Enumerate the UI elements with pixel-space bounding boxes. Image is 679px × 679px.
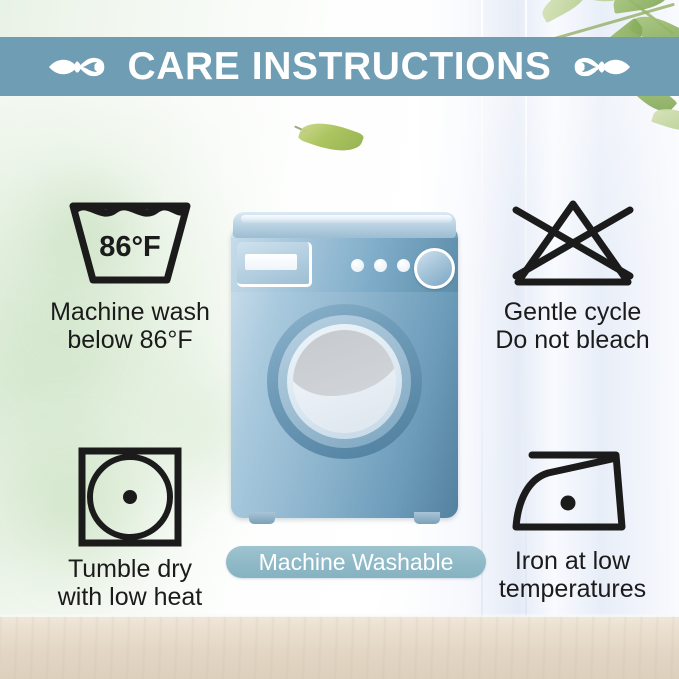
care-symbol-caption: Tumble dry with low heat <box>58 555 203 611</box>
care-symbol-gentle-cycle-no-bleach: Gentle cycle Do not bleach <box>470 196 675 354</box>
heat-dot <box>560 496 575 511</box>
indicator-light <box>374 259 387 272</box>
machine-foot <box>414 512 440 524</box>
program-knob <box>414 248 455 289</box>
machine-washable-label: Machine Washable <box>259 551 454 574</box>
detergent-drawer-slot <box>245 254 297 270</box>
care-symbol-caption: Iron at low temperatures <box>499 547 646 603</box>
machine-foot <box>249 512 275 524</box>
care-symbol-tumble-dry: Tumble dry with low heat <box>20 445 240 611</box>
triangle-crossed-no-bleach-icon <box>506 196 640 292</box>
care-instructions-infographic: CARE INSTRUCTIONS 86°F Machine wash belo… <box>0 0 679 679</box>
care-symbol-machine-wash: 86°F Machine wash below 86°F <box>20 196 240 354</box>
care-symbol-iron-low: Iron at low temperatures <box>470 445 675 603</box>
wash-temperature-label: 86°F <box>99 231 161 263</box>
machine-top-cap <box>233 212 456 238</box>
care-symbol-caption: Gentle cycle Do not bleach <box>495 298 649 354</box>
header-banner: CARE INSTRUCTIONS <box>0 37 679 96</box>
indicator-light <box>397 259 410 272</box>
front-load-washing-machine <box>231 212 458 530</box>
machine-washable-badge: Machine Washable <box>226 546 486 578</box>
indicator-light <box>351 259 364 272</box>
door-glass <box>293 330 396 433</box>
heat-dot <box>123 490 137 504</box>
fleur-de-lis-ornament-left <box>49 46 107 88</box>
tumble-dry-low-heat-icon <box>75 445 185 549</box>
table-wood-grain <box>0 617 679 679</box>
page-title: CARE INSTRUCTIONS <box>127 47 551 86</box>
fleur-de-lis-ornament-right <box>572 46 630 88</box>
iron-low-temperature-icon <box>506 445 640 541</box>
wash-tub-icon: 86°F <box>63 196 197 292</box>
care-symbol-caption: Machine wash below 86°F <box>50 298 210 354</box>
